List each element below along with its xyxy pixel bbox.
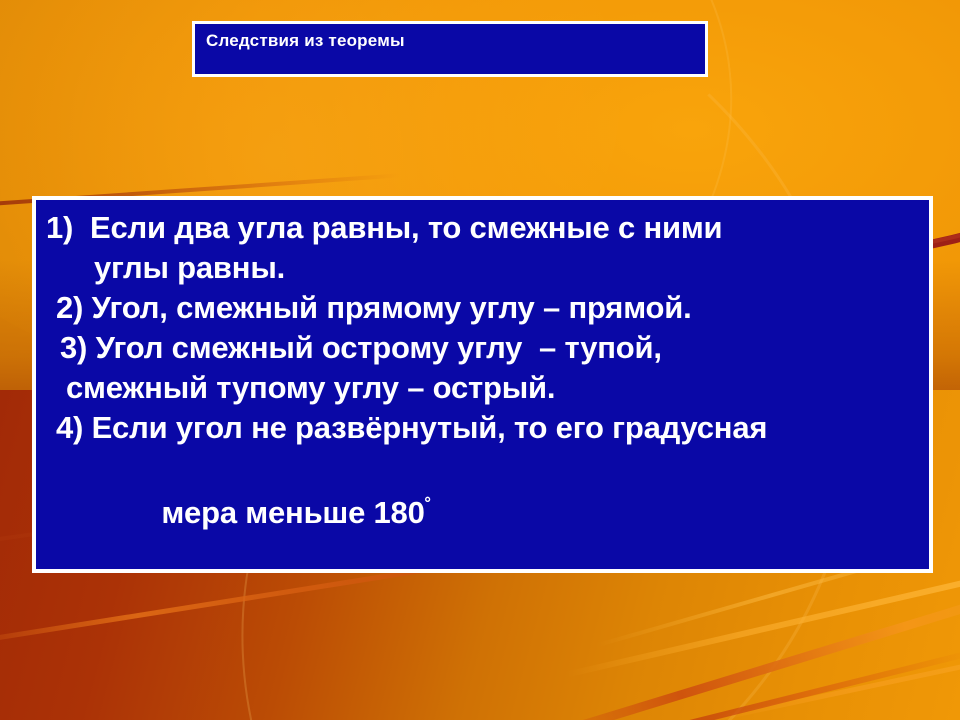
corollary-line-2: углы равны.: [46, 248, 923, 288]
slide-canvas: Следствия из теоремы 1) Если два угла ра…: [0, 0, 960, 720]
content-box: 1) Если два угла равны, то смежные с ним…: [32, 196, 933, 573]
corollary-line-7-text: мера меньше 180: [161, 495, 424, 530]
slide-title: Следствия из теоремы: [206, 31, 405, 51]
corollary-line-3: 2) Угол, смежный прямому углу – прямой.: [46, 288, 923, 328]
corollary-list: 1) Если два угла равны, то смежные с ним…: [46, 208, 923, 573]
corollary-line-5: смежный тупому углу – острый.: [46, 368, 923, 408]
corollary-line-6: 4) Если угол не развёрнутый, то его град…: [46, 408, 923, 448]
degree-symbol: ˚: [425, 496, 432, 519]
title-box: Следствия из теоремы: [192, 21, 708, 77]
corollary-line-7: мера меньше 180˚: [46, 448, 923, 573]
corollary-line-1: 1) Если два угла равны, то смежные с ним…: [46, 208, 923, 248]
corollary-line-4: 3) Угол смежный острому углу – тупой,: [46, 328, 923, 368]
